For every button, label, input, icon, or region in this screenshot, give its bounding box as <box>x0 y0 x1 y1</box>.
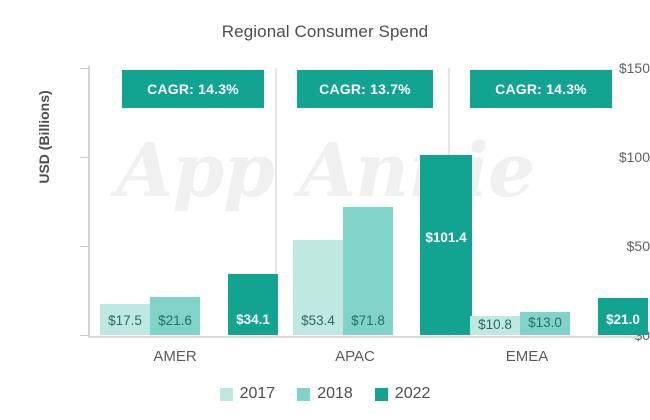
bar-value-label: $10.8 <box>470 317 520 332</box>
y-tick-label-50: $50 <box>576 239 650 253</box>
legend-label: 2017 <box>240 385 276 403</box>
bar-apac-2017: $53.4 <box>293 240 343 335</box>
x-axis-line <box>88 336 640 338</box>
group-separator-1 <box>275 68 277 336</box>
bar-apac-2018: $71.8 <box>343 207 393 335</box>
legend-label: 2022 <box>395 385 431 403</box>
legend-item-2018[interactable]: 2018 <box>297 385 353 403</box>
y-tick-mark-100 <box>80 157 88 158</box>
legend-item-2017[interactable]: 2017 <box>220 385 276 403</box>
cagr-badge-emea: CAGR: 14.3% <box>470 70 612 108</box>
x-category-label-emea: EMEA <box>472 348 582 365</box>
bar-value-label: $71.8 <box>343 313 393 328</box>
legend-swatch-icon <box>375 388 388 401</box>
y-axis-line <box>88 66 90 337</box>
y-tick-mark-50 <box>80 246 88 247</box>
cagr-badge-amer: CAGR: 14.3% <box>122 70 264 108</box>
bar-amer-2017: $17.5 <box>100 304 150 335</box>
legend-label: 2018 <box>317 385 353 403</box>
bar-value-label: $34.1 <box>228 312 278 327</box>
legend-swatch-icon <box>220 388 233 401</box>
bar-value-label: $53.4 <box>293 313 343 328</box>
bar-value-label: $21.6 <box>150 313 200 328</box>
bar-apac-2022: $101.4 <box>420 155 472 335</box>
y-tick-mark-150 <box>80 68 88 69</box>
bar-value-label: $101.4 <box>420 230 472 245</box>
y-axis-title: USD (Billions) <box>36 37 52 237</box>
x-category-label-apac: APAC <box>300 348 410 365</box>
group-separator-2 <box>448 68 450 336</box>
y-tick-label-100: $100 <box>576 150 650 164</box>
chart-title: Regional Consumer Spend <box>0 22 650 42</box>
bar-value-label: $13.0 <box>520 315 570 330</box>
bar-value-label: $17.5 <box>100 313 150 328</box>
y-tick-mark-0 <box>80 335 88 336</box>
chart-legend: 2017 2018 2022 <box>0 385 650 403</box>
watermark-app-annie: App Annie <box>0 128 650 214</box>
x-category-label-amer: AMER <box>120 348 230 365</box>
bar-amer-2022: $34.1 <box>228 274 278 335</box>
chart-container: Regional Consumer Spend App Annie USD (B… <box>0 0 650 420</box>
legend-item-2022[interactable]: 2022 <box>375 385 431 403</box>
bar-value-label: $21.0 <box>598 312 648 327</box>
cagr-badge-apac: CAGR: 13.7% <box>297 70 433 108</box>
bar-emea-2017: $10.8 <box>470 316 520 335</box>
bar-emea-2018: $13.0 <box>520 312 570 335</box>
bar-amer-2018: $21.6 <box>150 297 200 335</box>
legend-swatch-icon <box>297 388 310 401</box>
y-tick-label-0: $0 <box>576 328 650 342</box>
